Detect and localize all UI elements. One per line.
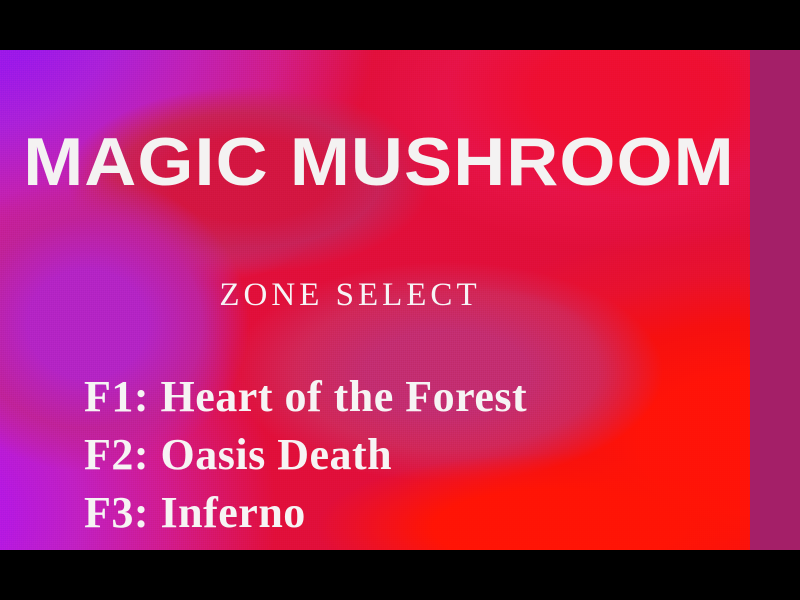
game-title: MAGIC MUSHROOM <box>0 128 760 196</box>
zone-menu-item-f2[interactable]: F2: Oasis Death <box>84 426 527 484</box>
game-screen: MAGIC MUSHROOM ZONE SELECT F1: Heart of … <box>0 0 800 600</box>
zone-menu: F1: Heart of the Forest F2: Oasis Death … <box>84 368 527 542</box>
letterbox-bar-bottom <box>0 550 800 600</box>
zone-menu-item-f1[interactable]: F1: Heart of the Forest <box>84 368 527 426</box>
letterbox-bar-top <box>0 0 800 50</box>
screen-content: MAGIC MUSHROOM ZONE SELECT F1: Heart of … <box>0 50 750 550</box>
zone-select-heading: ZONE SELECT <box>0 278 700 312</box>
zone-menu-item-f3[interactable]: F3: Inferno <box>84 484 527 542</box>
game-viewport: MAGIC MUSHROOM ZONE SELECT F1: Heart of … <box>0 50 800 550</box>
